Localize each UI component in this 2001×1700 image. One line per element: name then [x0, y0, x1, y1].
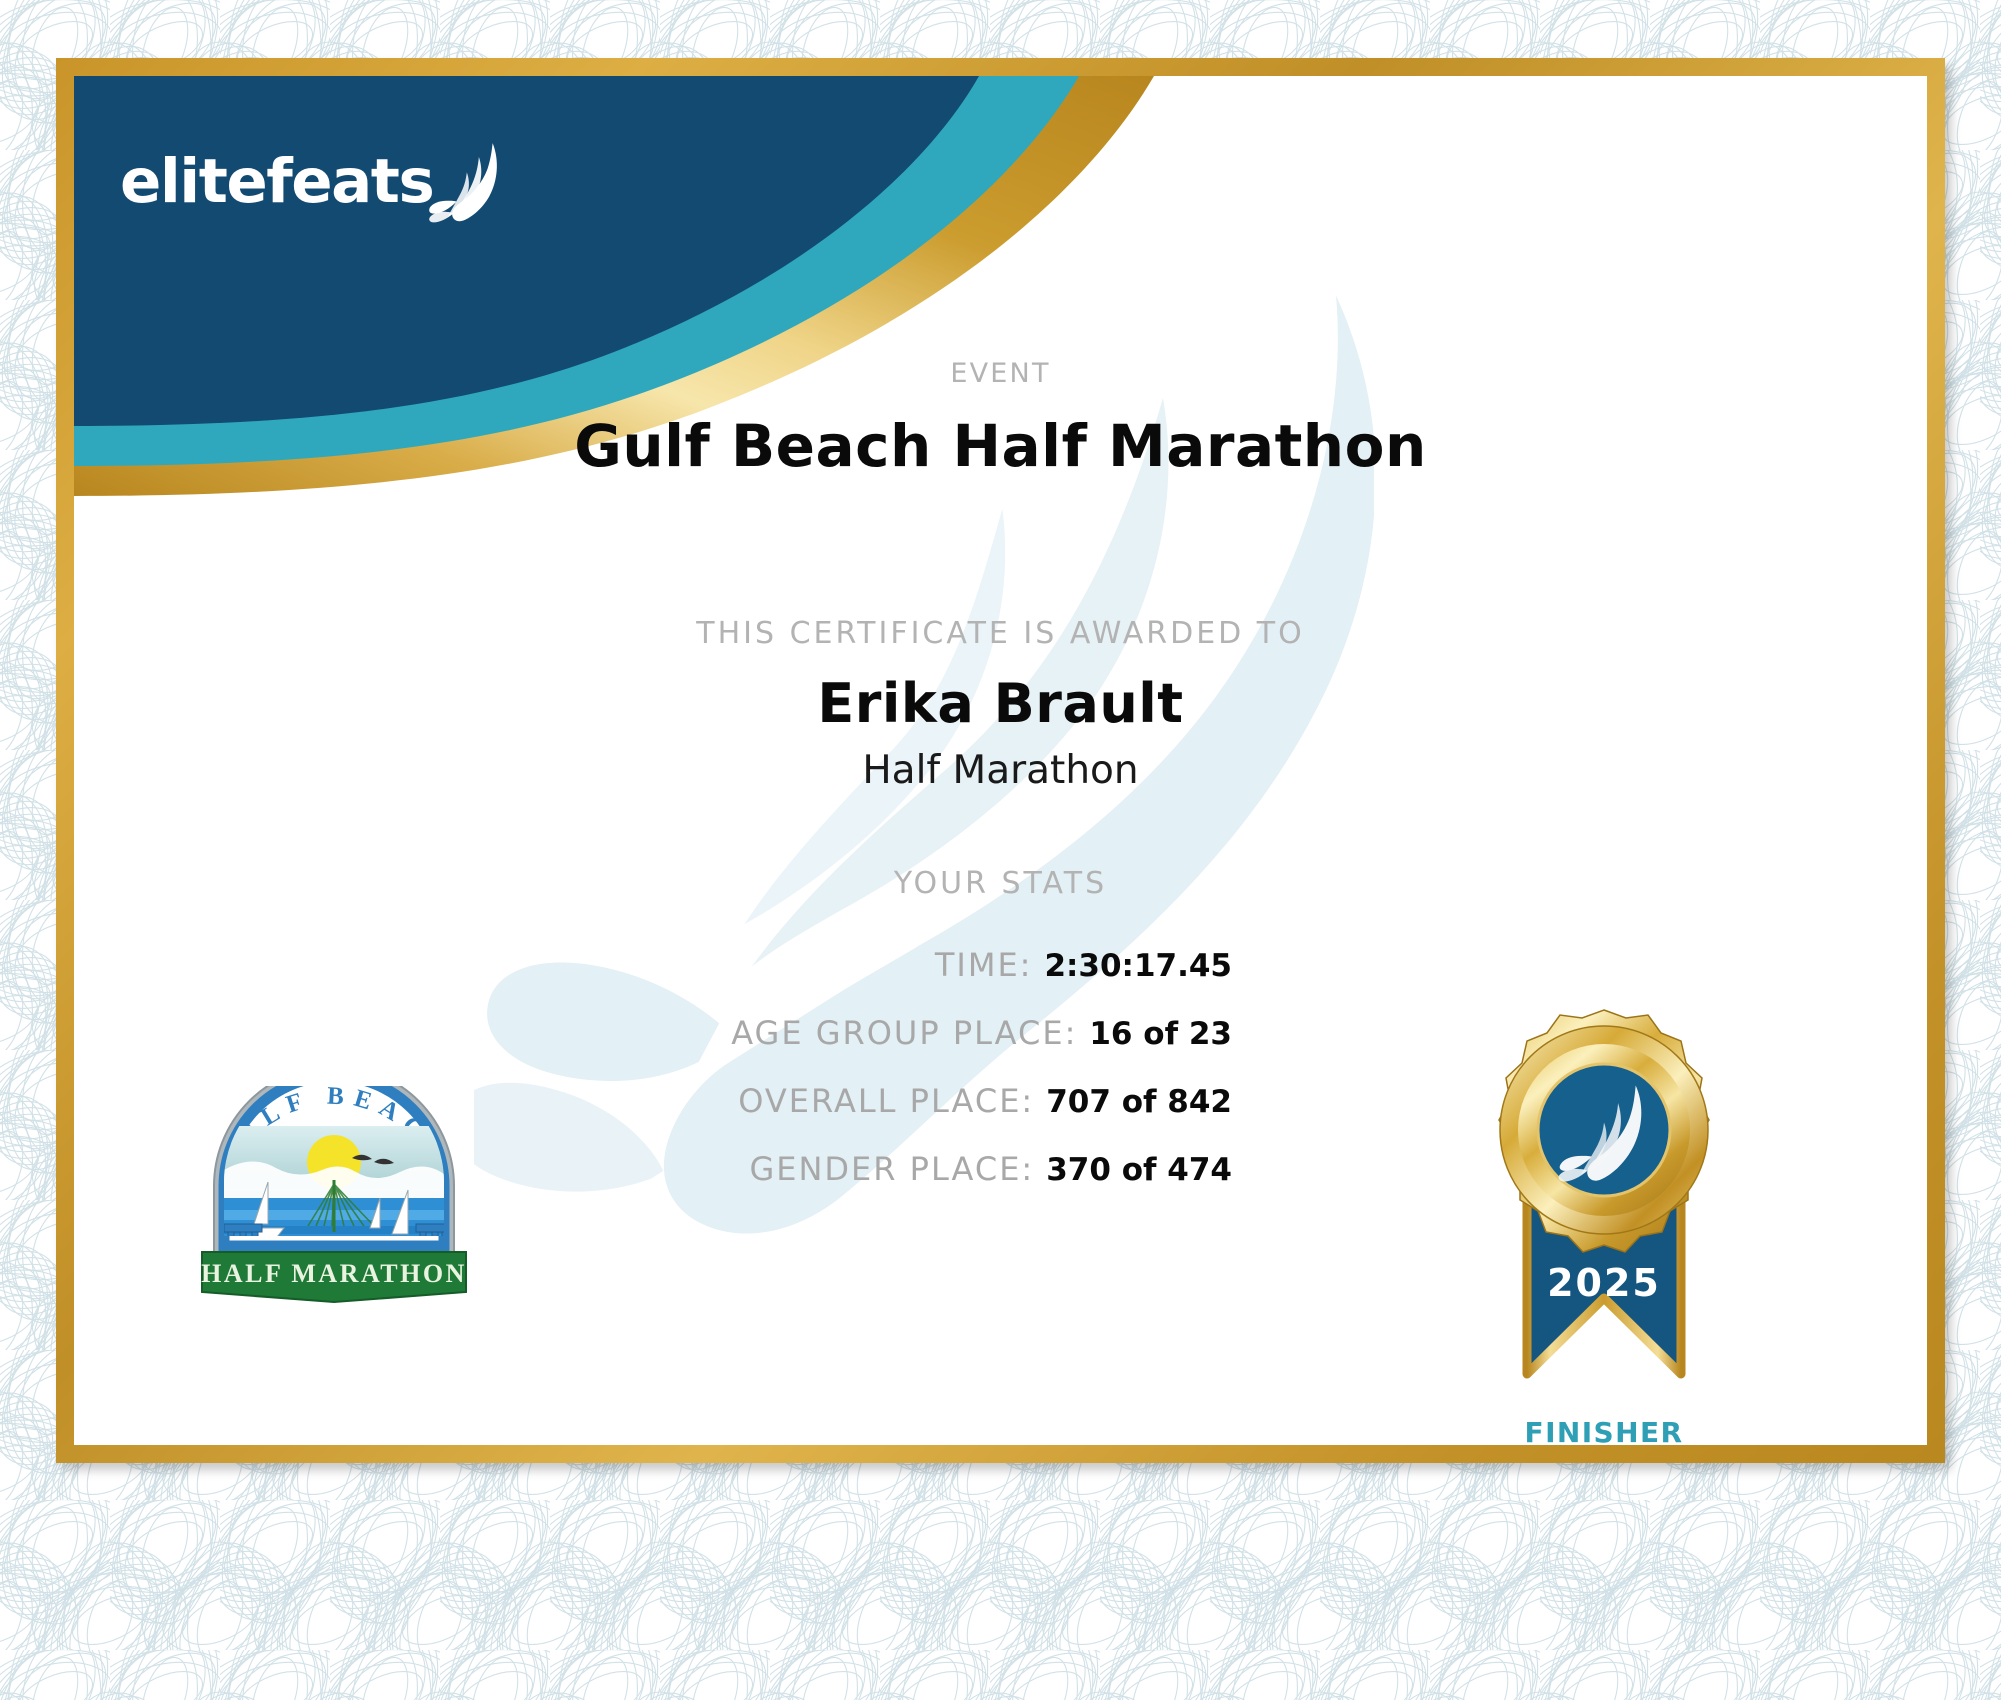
- gulf-beach-event-logo: GULF BEACH: [184, 1086, 484, 1316]
- seal-year: 2025: [1547, 1261, 1661, 1305]
- stat-value-overall-place: 707 of 842: [1046, 1084, 1232, 1120]
- your-stats-label: YOUR STATS: [74, 866, 1927, 901]
- caption-line-finisher: FINISHER: [1434, 1418, 1774, 1445]
- awarded-to-label: THIS CERTIFICATE IS AWARDED TO: [74, 616, 1927, 651]
- event-label: EVENT: [74, 358, 1927, 389]
- stat-row: AGE GROUP PLACE: 16 of 23: [74, 1014, 1232, 1060]
- gold-medal-seal-icon: 2025: [1439, 996, 1769, 1416]
- stat-key-gender-place: GENDER PLACE:: [749, 1150, 1034, 1188]
- stat-key-overall-place: OVERALL PLACE:: [738, 1082, 1034, 1120]
- event-logo-banner-text: HALF MARATHON: [201, 1259, 467, 1288]
- finisher-certificate-caption: FINISHER CERTIFICATE: [1434, 1418, 1774, 1445]
- finisher-seal-block: 2025 FINISHER CERTIFICATE: [1434, 996, 1774, 1445]
- recipient-division: Half Marathon: [74, 748, 1927, 793]
- stat-value-age-group-place: 16 of 23: [1089, 1016, 1232, 1052]
- stat-row: TIME: 2:30:17.45: [74, 946, 1232, 992]
- recipient-name: Erika Brault: [74, 672, 1927, 735]
- event-title: Gulf Beach Half Marathon: [74, 412, 1927, 480]
- stat-value-gender-place: 370 of 474: [1046, 1152, 1232, 1188]
- certificate-paper: elitefeats EVENT Gulf Beach Half Maratho…: [74, 76, 1927, 1445]
- certificate-page: elitefeats EVENT Gulf Beach Half Maratho…: [0, 0, 2001, 1700]
- stat-key-time: TIME:: [935, 946, 1033, 984]
- stat-key-age-group-place: AGE GROUP PLACE:: [731, 1014, 1077, 1052]
- stat-value-time: 2:30:17.45: [1044, 948, 1232, 984]
- gold-certificate-frame: elitefeats EVENT Gulf Beach Half Maratho…: [56, 58, 1945, 1463]
